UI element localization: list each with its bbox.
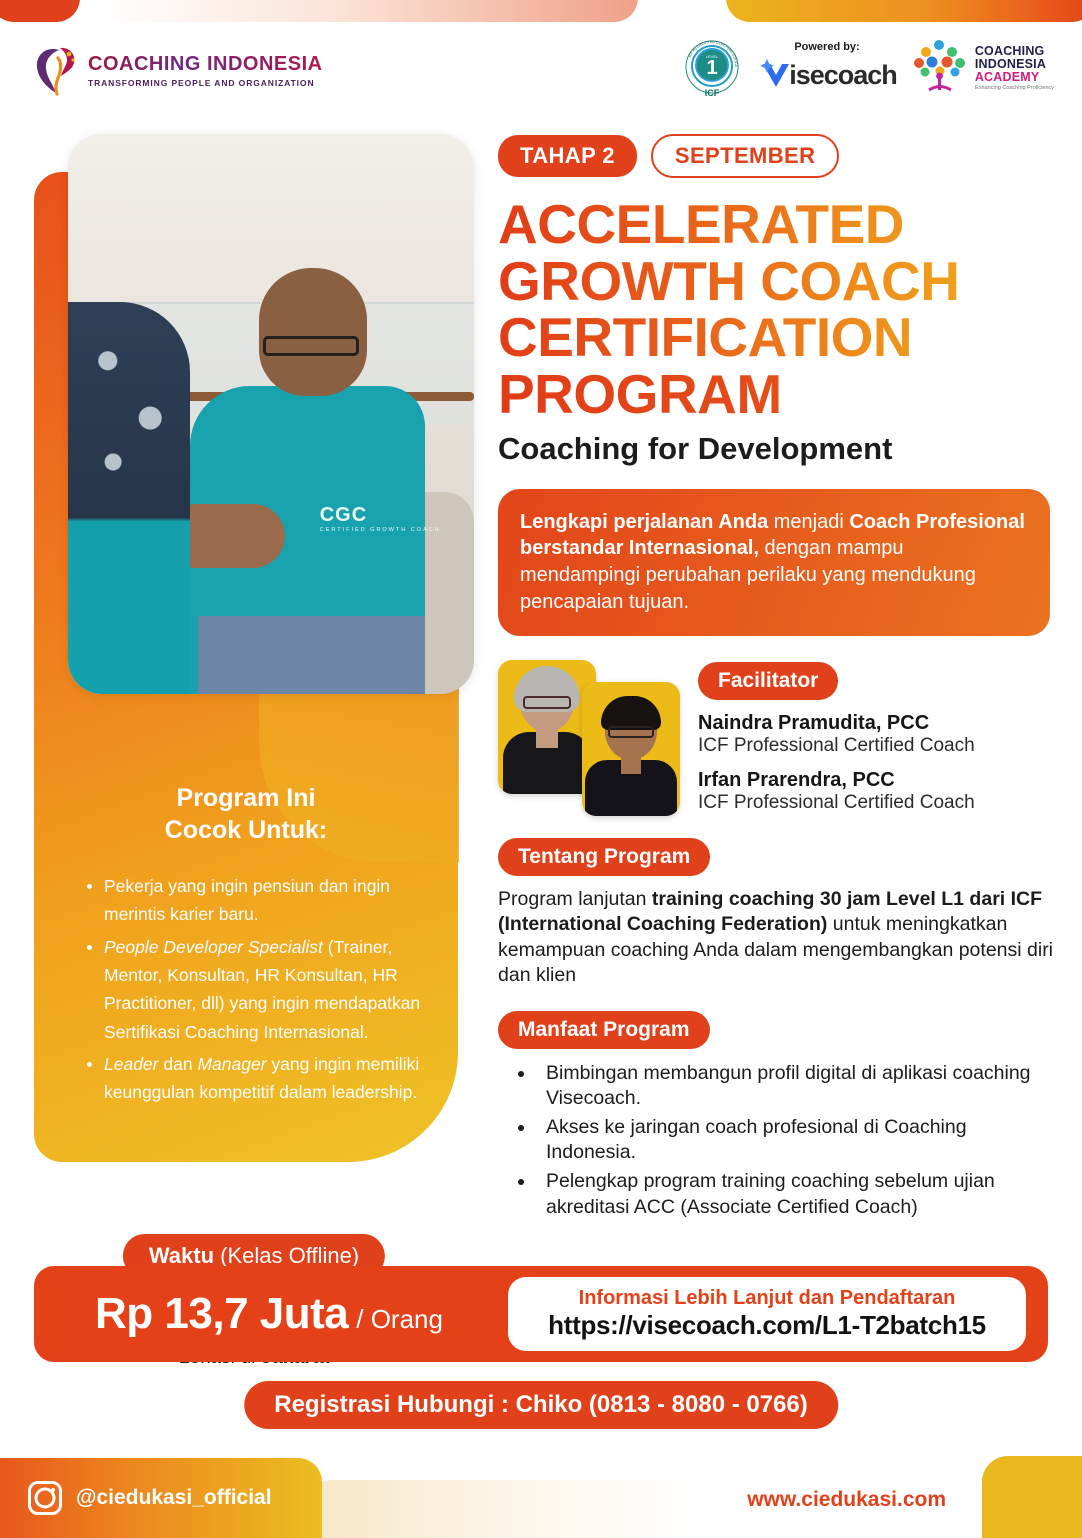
suitable-title-line-1: Program Ini <box>34 782 458 814</box>
top-decor-bar-red <box>0 0 80 22</box>
partner-logos: LEVEL 1 ICF ICF ACCREDITED COACHING EDUC… <box>681 36 1054 101</box>
price-unit: / Orang <box>356 1304 443 1335</box>
suitable-list-item: Pekerja yang ingin pensiun dan ingin mer… <box>104 872 450 929</box>
left-column: CGCCERTIFIED GROWTH COACH Program Ini Co… <box>34 134 474 1234</box>
registration-contact-button[interactable]: Registrasi Hubungi : Chiko (0813 - 8080 … <box>244 1381 838 1429</box>
page-title: ACCELERATED GROWTH COACH CERTIFICATION P… <box>498 196 1054 423</box>
header: COACHING INDONESIA TRANSFORMING PEOPLE A… <box>0 30 1082 125</box>
intro-callout: Lengkapi perjalanan Anda menjadi Coach P… <box>498 489 1050 636</box>
benefits-section: Manfaat Program Bimbingan membangun prof… <box>498 1011 1054 1220</box>
facilitator-2-role: ICF Professional Certified Coach <box>698 792 975 814</box>
suitable-list-item: People Developer Specialist (Trainer, Me… <box>104 933 450 1046</box>
brand-tagline: TRANSFORMING PEOPLE AND ORGANIZATION <box>88 78 323 88</box>
benefits-list: Bimbingan membangun profil digital di ap… <box>498 1061 1054 1220</box>
people-tree-icon <box>911 36 969 101</box>
footer-website[interactable]: www.ciedukasi.com <box>747 1488 946 1512</box>
about-body: Program lanjutan training coaching 30 ja… <box>498 887 1054 989</box>
about-section: Tentang Program Program lanjutan trainin… <box>498 838 1054 989</box>
academy-line-2: INDONESIA <box>975 58 1054 71</box>
stage-badge: TAHAP 2 <box>498 135 637 177</box>
suitable-list-item: Leader dan Manager yang ingin memiliki k… <box>104 1050 450 1107</box>
footer-yellow-shape <box>982 1456 1082 1538</box>
price-amount: Rp 13,7 Juta <box>95 1289 348 1339</box>
footer: @ciedukasi_official www.ciedukasi.com <box>0 1458 1082 1538</box>
hero-badges: TAHAP 2 SEPTEMBER <box>498 134 1054 178</box>
facilitator-photos <box>498 660 680 816</box>
facilitator-photo-2 <box>582 682 680 816</box>
powered-by-label: Powered by: <box>794 41 859 53</box>
benefit-list-item: Pelengkap program training coaching sebe… <box>536 1169 1054 1220</box>
benefit-list-item: Bimbingan membangun profil digital di ap… <box>536 1061 1054 1112</box>
top-decor-bar-light <box>98 0 638 22</box>
academy-tagline: Enhancing Coaching Proficiency <box>975 86 1054 92</box>
registration-cta-card[interactable]: Informasi Lebih Lanjut dan Pendaftaran h… <box>508 1277 1026 1351</box>
svg-text:1: 1 <box>707 57 718 79</box>
suitable-list: Pekerja yang ingin pensiun dan ingin mer… <box>74 872 450 1111</box>
title-line-2: GROWTH COACH <box>498 253 1054 310</box>
footer-fade-shape <box>310 1480 700 1538</box>
visecoach-wordmark: isecoach <box>789 60 897 91</box>
price-display: Rp 13,7 Juta / Orang <box>34 1289 504 1339</box>
right-column: TAHAP 2 SEPTEMBER ACCELERATED GROWTH COA… <box>498 134 1054 1223</box>
page-subtitle: Coaching for Development <box>498 431 1054 467</box>
academy-line-3: ACADEMY <box>975 71 1054 84</box>
title-line-4: PROGRAM <box>498 366 1054 423</box>
about-pill: Tentang Program <box>498 838 710 876</box>
top-decor-bar-gradient <box>726 0 1082 22</box>
facilitator-info: Facilitator Naindra Pramudita, PCC ICF P… <box>698 660 975 816</box>
facilitator-pill: Facilitator <box>698 662 838 700</box>
title-line-3: CERTIFICATION <box>498 309 1054 366</box>
poster-root: COACHING INDONESIA TRANSFORMING PEOPLE A… <box>0 0 1082 1538</box>
suitable-title-line-2: Cocok Untuk: <box>34 814 458 846</box>
cta-label: Informasi Lebih Lanjut dan Pendaftaran <box>579 1287 956 1310</box>
instagram-icon <box>28 1481 62 1515</box>
coaching-session-photo: CGCCERTIFIED GROWTH COACH <box>68 134 474 694</box>
schedule-badge-rest: (Kelas Offline) <box>214 1243 359 1268</box>
facilitator-1-role: ICF Professional Certified Coach <box>698 735 975 757</box>
footer-instagram[interactable]: @ciedukasi_official <box>0 1458 322 1538</box>
suitable-title: Program Ini Cocok Untuk: <box>34 782 458 846</box>
facilitator-1-name: Naindra Pramudita, PCC <box>698 712 975 735</box>
coaching-indonesia-academy-logo: COACHING INDONESIA ACADEMY Enhancing Coa… <box>911 36 1054 101</box>
benefit-list-item: Akses ke jaringan coach profesional di C… <box>536 1115 1054 1166</box>
instagram-handle: @ciedukasi_official <box>76 1486 272 1510</box>
icf-accreditation-badge-icon: LEVEL 1 ICF ICF ACCREDITED COACHING EDUC… <box>681 38 743 100</box>
title-line-1: ACCELERATED <box>498 196 1054 253</box>
facilitator-section: Facilitator Naindra Pramudita, PCC ICF P… <box>498 660 1054 816</box>
coaching-indonesia-logo: COACHING INDONESIA TRANSFORMING PEOPLE A… <box>34 44 323 96</box>
schedule-badge-bold: Waktu <box>149 1243 214 1268</box>
academy-line-1: COACHING <box>975 45 1054 58</box>
heart-swirl-icon <box>34 44 78 96</box>
month-badge: SEPTEMBER <box>651 134 840 178</box>
visecoach-logo: Powered by: isecoach <box>757 41 897 97</box>
price-bar: Rp 13,7 Juta / Orang Informasi Lebih Lan… <box>34 1266 1048 1362</box>
cta-url[interactable]: https://visecoach.com/L1-T2batch15 <box>548 1310 986 1341</box>
facilitator-2-name: Irfan Prarendra, PCC <box>698 769 975 792</box>
svg-text:ICF: ICF <box>705 88 720 98</box>
benefits-pill: Manfaat Program <box>498 1011 710 1049</box>
brand-name: COACHING INDONESIA <box>88 53 323 76</box>
